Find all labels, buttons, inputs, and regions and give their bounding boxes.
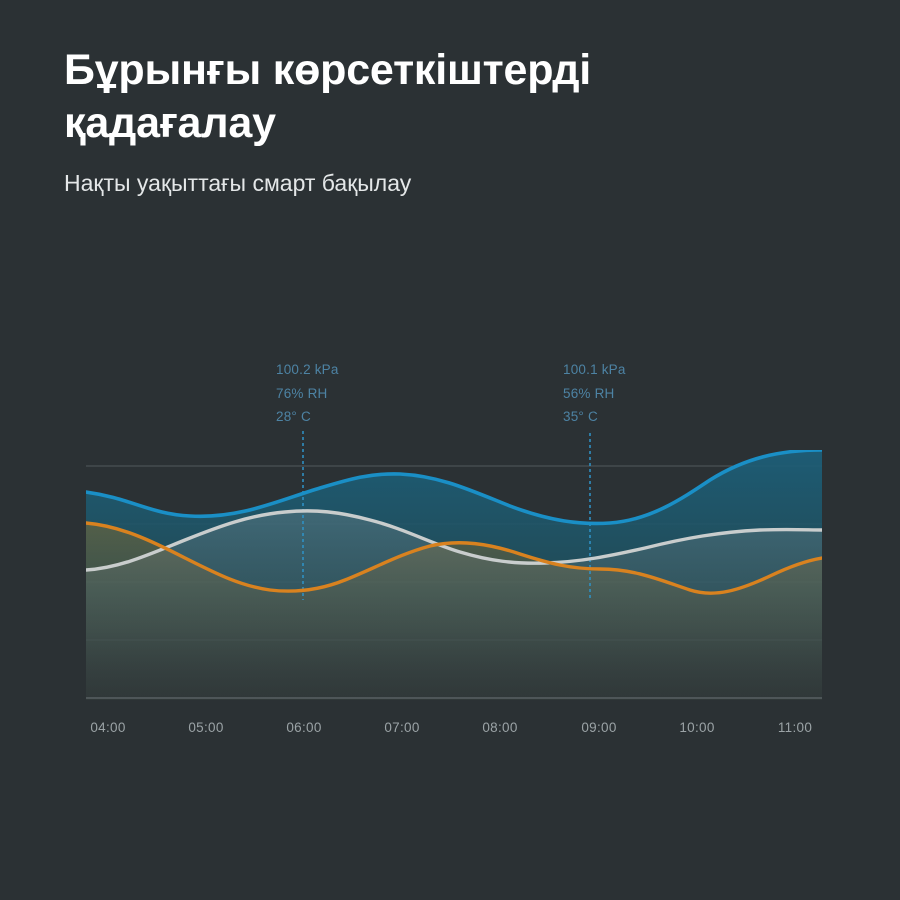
x-tick-label: 06:00 <box>286 720 321 735</box>
annotation-temperature: 35° C <box>563 405 626 429</box>
annotation-humidity: 56% RH <box>563 382 626 406</box>
annotation-pressure: 100.2 kPa <box>276 358 339 382</box>
page-subtitle: Нақты уақыттағы смарт бақылау <box>64 170 834 198</box>
x-tick-label: 09:00 <box>581 720 616 735</box>
marker-annotation-0900: 100.1 kPa 56% RH 35° C <box>563 358 626 429</box>
history-chart: 100.2 kPa 76% RH 28° C 100.1 kPa 56% RH … <box>0 340 900 760</box>
annotation-humidity: 76% RH <box>276 382 339 406</box>
x-tick-label: 05:00 <box>188 720 223 735</box>
x-tick-label: 11:00 <box>778 720 812 735</box>
annotation-temperature: 28° C <box>276 405 339 429</box>
dashboard-page: Бұрынғы көрсеткіштерді қадағалау Нақты у… <box>0 0 900 900</box>
page-title: Бұрынғы көрсеткіштерді қадағалау <box>64 44 764 150</box>
annotation-pressure: 100.1 kPa <box>563 358 626 382</box>
x-tick-label: 04:00 <box>90 720 125 735</box>
marker-annotation-0600: 100.2 kPa 76% RH 28° C <box>276 358 339 429</box>
x-tick-label: 07:00 <box>384 720 419 735</box>
x-tick-label: 08:00 <box>482 720 517 735</box>
header: Бұрынғы көрсеткіштерді қадағалау Нақты у… <box>64 44 834 197</box>
x-tick-label: 10:00 <box>679 720 714 735</box>
chart-canvas <box>0 340 900 760</box>
